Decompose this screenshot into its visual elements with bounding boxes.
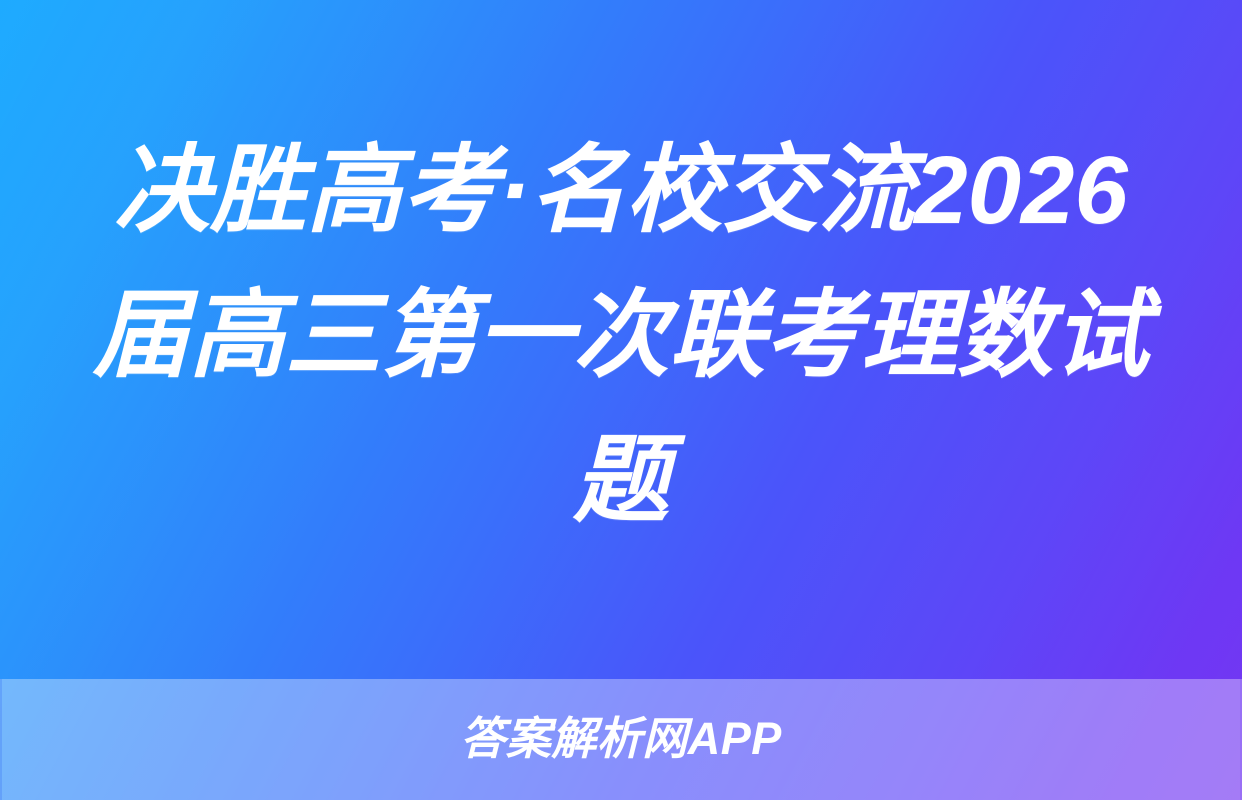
footer-brand-band: 答案解析网APP: [0, 679, 1242, 800]
exam-paper-cover-poster: 决胜高考·名校交流2026届高三第一次联考理数试题 答案解析网APP: [0, 0, 1242, 800]
app-brand-label: 答案解析网APP: [460, 716, 782, 761]
page-title: 决胜高考·名校交流2026届高三第一次联考理数试题: [74, 118, 1168, 553]
headline-area: 决胜高考·名校交流2026届高三第一次联考理数试题: [0, 0, 1242, 679]
